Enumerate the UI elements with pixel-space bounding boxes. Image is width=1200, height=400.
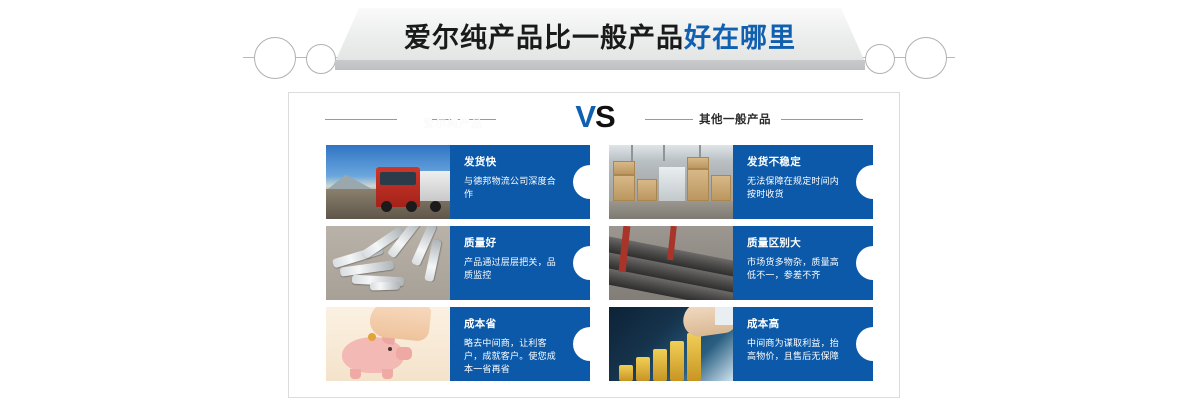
decor-circle-right-medium <box>865 44 895 74</box>
left-advantages-column: 发货快 与德邦物流公司深度合作 质量好 产品通过层层把关，品质监控 <box>326 145 590 388</box>
card-title: 发货快 <box>464 156 564 169</box>
card-body: 质量好 产品通过层层把关，品质监控 <box>450 226 590 300</box>
title-plate: 爱尔纯产品比一般产品好在哪里 <box>335 8 865 70</box>
card-notch-circle <box>573 246 590 280</box>
card-description: 市场货多物杂，质量高低不一，参差不齐 <box>747 256 847 282</box>
page-title: 爱尔纯产品比一般产品好在哪里 <box>335 8 865 62</box>
card-title: 成本省 <box>464 318 564 331</box>
gold-coin-stacks-icon <box>609 307 733 381</box>
drawback-card-delivery[interactable]: 发货不稳定 无法保障在规定时间内按时收货 <box>609 145 873 219</box>
truck-on-highway-icon <box>326 145 450 219</box>
card-description: 产品通过层层把关，品质监控 <box>464 256 564 282</box>
right-column-label: 其他一般产品 <box>693 111 777 127</box>
vs-letter-s: S <box>595 99 615 134</box>
card-notch-circle <box>856 327 873 361</box>
advantage-card-delivery[interactable]: 发货快 与德邦物流公司深度合作 <box>326 145 590 219</box>
card-description: 与德邦物流公司深度合作 <box>464 175 564 201</box>
card-body: 发货不稳定 无法保障在规定时间内按时收货 <box>733 145 873 219</box>
page-title-primary: 爱尔纯产品比一般产品 <box>404 16 684 55</box>
card-body: 质量区别大 市场货多物杂，质量高低不一，参差不齐 <box>733 226 873 300</box>
card-image-truck <box>326 145 450 219</box>
piggy-bank-savings-icon <box>326 307 450 381</box>
drawback-card-cost[interactable]: 成本高 中间商为谋取利益，抬高物价，且售后无保障 <box>609 307 873 381</box>
card-body: 发货快 与德邦物流公司深度合作 <box>450 145 590 219</box>
advantage-card-cost[interactable]: 成本省 略去中间商，让利客户，成就客户。使您成本一省再省 <box>326 307 590 381</box>
advantage-card-quality[interactable]: 质量好 产品通过层层把关，品质监控 <box>326 226 590 300</box>
warehouse-boxes-icon <box>609 145 733 219</box>
grey-pipes-icon <box>609 226 733 300</box>
card-description: 中间商为谋取利益，抬高物价，且售后无保障 <box>747 337 847 363</box>
vs-badge: VS <box>557 98 633 136</box>
header-rule-c <box>645 119 693 120</box>
card-notch-circle <box>856 165 873 199</box>
card-body: 成本高 中间商为谋取利益，抬高物价，且售后无保障 <box>733 307 873 381</box>
steel-tubes-icon <box>326 226 450 300</box>
decor-circle-left-large <box>254 37 296 79</box>
card-notch-circle <box>573 327 590 361</box>
card-image-warehouse <box>609 145 733 219</box>
comparison-panel: 爱尔纯产品 VS 其他一般产品 发货快 与德邦物流公司深度合作 <box>288 92 900 398</box>
vs-letter-v: V <box>575 99 595 134</box>
card-image-gold-coins <box>609 307 733 381</box>
card-image-piggy-bank <box>326 307 450 381</box>
header-rule-a <box>325 119 397 120</box>
card-image-pipes <box>609 226 733 300</box>
card-description: 略去中间商，让利客户，成就客户。使您成本一省再省 <box>464 337 564 376</box>
card-title: 成本高 <box>747 318 847 331</box>
card-body: 成本省 略去中间商，让利客户，成就客户。使您成本一省再省 <box>450 307 590 381</box>
card-title: 质量区别大 <box>747 237 847 250</box>
card-title: 发货不稳定 <box>747 156 847 169</box>
left-column-label: 爱尔纯产品 <box>393 115 513 131</box>
card-image-steel-tubes <box>326 226 450 300</box>
decor-circle-right-large <box>905 37 947 79</box>
decor-circle-left-medium <box>306 44 336 74</box>
card-notch-circle <box>573 165 590 199</box>
card-description: 无法保障在规定时间内按时收货 <box>747 175 847 201</box>
page-title-accent: 好在哪里 <box>684 16 796 55</box>
card-notch-circle <box>856 246 873 280</box>
drawback-card-quality[interactable]: 质量区别大 市场货多物杂，质量高低不一，参差不齐 <box>609 226 873 300</box>
comparison-header: 爱尔纯产品 VS 其他一般产品 <box>289 93 901 141</box>
card-title: 质量好 <box>464 237 564 250</box>
page-header-banner: 爱尔纯产品比一般产品好在哪里 <box>0 0 1200 86</box>
right-drawbacks-column: 发货不稳定 无法保障在规定时间内按时收货 质量区别大 市场货多物杂，质量高低不一… <box>609 145 873 388</box>
header-rule-d <box>781 119 863 120</box>
